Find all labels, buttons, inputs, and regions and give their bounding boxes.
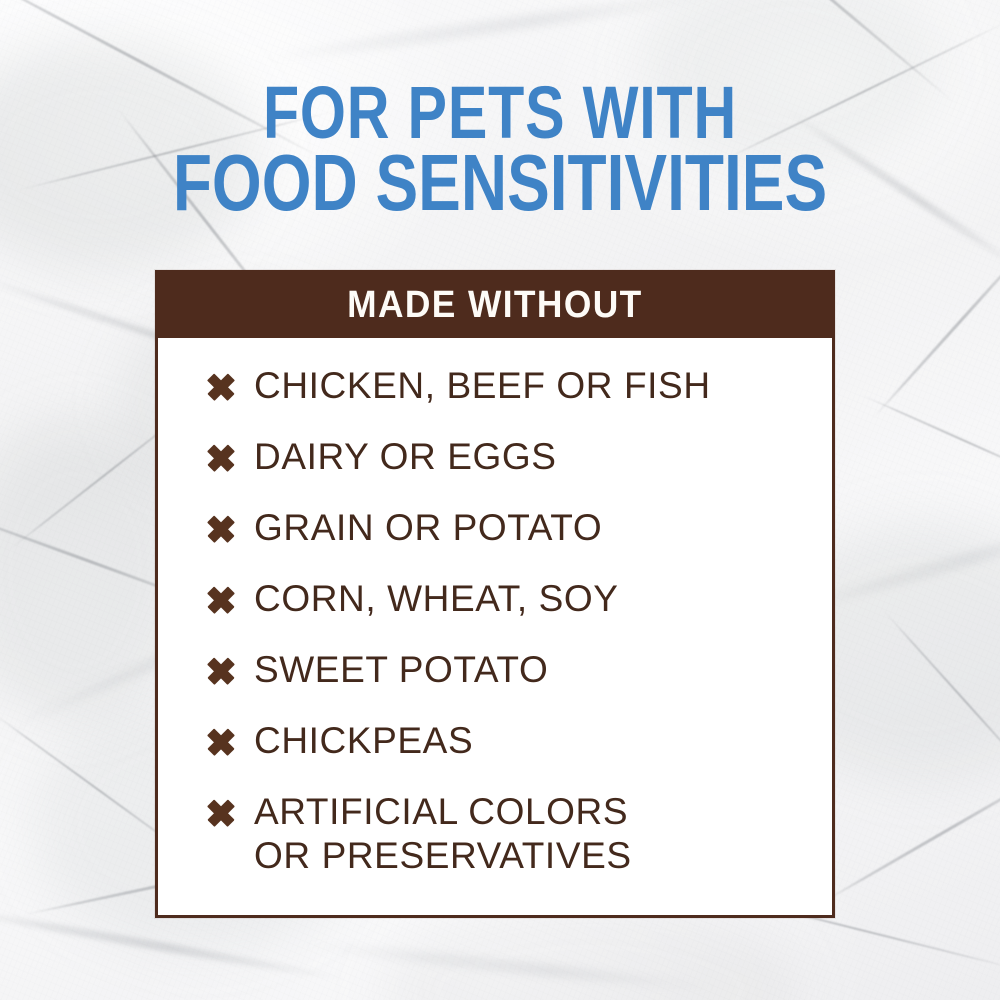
made-without-list: CHICKEN, BEEF OR FISH DAIRY OR EGGS GRAI…: [158, 364, 832, 878]
list-item-label: SWEET POTATO: [254, 648, 548, 692]
panel-body: CHICKEN, BEEF OR FISH DAIRY OR EGGS GRAI…: [158, 338, 832, 915]
list-item-label: ARTIFICIAL COLORS OR PRESERVATIVES: [254, 790, 632, 878]
list-item-label: CHICKPEAS: [254, 719, 473, 763]
x-mark-icon: [204, 438, 238, 478]
list-item: DAIRY OR EGGS: [158, 435, 832, 479]
list-item-label: DAIRY OR EGGS: [254, 435, 557, 479]
x-mark-icon: [204, 509, 238, 549]
list-item: CHICKPEAS: [158, 719, 832, 763]
page-title-line-2: FOOD SENSITIVITIES: [100, 148, 900, 218]
list-item-label: GRAIN OR POTATO: [254, 506, 602, 550]
list-item: SWEET POTATO: [158, 648, 832, 692]
panel-header: MADE WITHOUT: [158, 273, 832, 338]
list-item-label: CORN, WHEAT, SOY: [254, 577, 619, 621]
poster-canvas: FOR PETS WITH FOOD SENSITIVITIES MADE WI…: [0, 0, 1000, 1000]
panel-header-title: MADE WITHOUT: [347, 284, 642, 327]
list-item: CORN, WHEAT, SOY: [158, 577, 832, 621]
list-item: ARTIFICIAL COLORS OR PRESERVATIVES: [158, 790, 832, 878]
list-item-label: CHICKEN, BEEF OR FISH: [254, 364, 711, 408]
x-mark-icon: [204, 722, 238, 762]
list-item: GRAIN OR POTATO: [158, 506, 832, 550]
page-title: FOR PETS WITH FOOD SENSITIVITIES: [100, 78, 900, 218]
list-item: CHICKEN, BEEF OR FISH: [158, 364, 832, 408]
x-mark-icon: [204, 793, 238, 833]
x-mark-icon: [204, 580, 238, 620]
x-mark-icon: [204, 651, 238, 691]
made-without-panel: MADE WITHOUT CHICKEN, BEEF OR FISH DAIRY…: [155, 270, 835, 918]
x-mark-icon: [204, 367, 238, 407]
